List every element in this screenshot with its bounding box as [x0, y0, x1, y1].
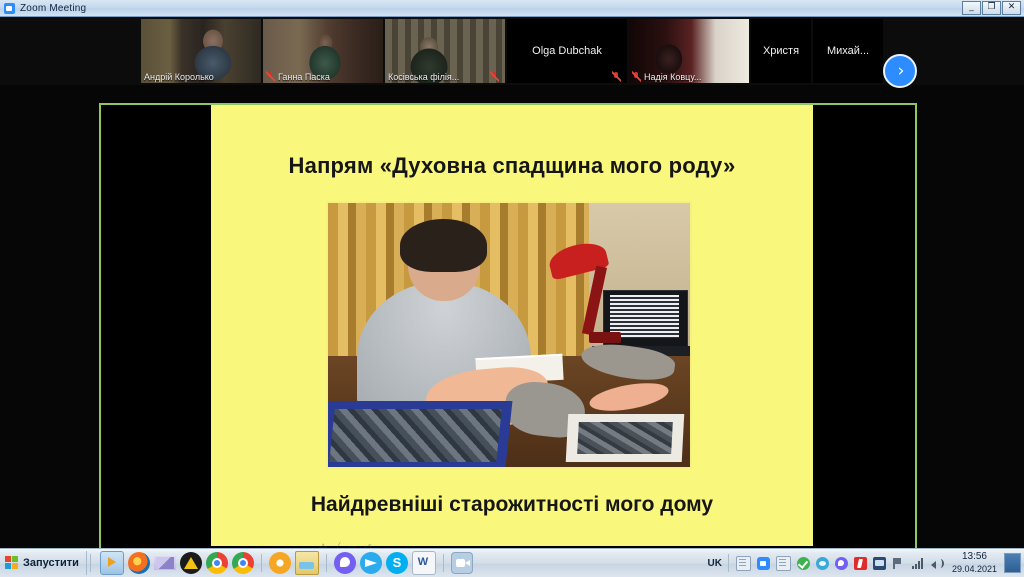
participant-tile[interactable]: Андрій Королько [141, 19, 261, 83]
participant-nametag: Надія Ковцу... [629, 70, 704, 83]
clock-time: 13:56 [952, 551, 997, 563]
file-explorer-icon[interactable] [295, 551, 319, 575]
participant-name: Надія Ковцу... [644, 72, 701, 82]
participant-name: Olga Dubchak [507, 19, 627, 83]
chrome-icon[interactable] [206, 552, 228, 574]
windows-logo-icon [5, 556, 19, 570]
mail-icon[interactable] [154, 552, 176, 574]
eye-icon[interactable] [816, 557, 829, 570]
participant-name: Косівська філія... [388, 72, 459, 82]
signal-icon[interactable] [911, 557, 924, 570]
presentation-slide: Напрям «Духовна спадщина мого роду» [211, 105, 813, 546]
participant-name: Ганна Паска [278, 72, 330, 82]
window-controls: _ ❐ ✕ [962, 1, 1024, 15]
flag-icon[interactable] [892, 557, 905, 570]
taskbar-clock[interactable]: 13:56 29.04.2021 [946, 551, 1002, 575]
orange-circle-app-icon[interactable] [269, 552, 291, 574]
mute-icon [490, 71, 499, 82]
participant-tile[interactable]: Olga Dubchak [507, 19, 627, 83]
red-app-icon[interactable] [854, 557, 867, 570]
mute-icon [632, 71, 641, 82]
skype-icon[interactable] [386, 552, 408, 574]
briefcase-icon[interactable] [736, 556, 751, 571]
zoom-app-icon[interactable] [451, 552, 473, 574]
quick-launch-bar [94, 551, 473, 575]
volume-icon[interactable] [930, 557, 943, 570]
telegram-icon[interactable] [360, 552, 382, 574]
participant-nametag: Ганна Паска [263, 70, 333, 83]
taskbar-divider [90, 554, 91, 572]
windows-taskbar: Запустити UK 13:56 29 [0, 548, 1024, 577]
participant-filmstrip: Андрій Королько Ганна Паска Косівська фі… [0, 17, 1024, 85]
zoom-meeting-window: Андрій Королько Ганна Паска Косівська фі… [0, 17, 1024, 548]
system-tray: UK 13:56 29.04.2021 [702, 549, 1024, 577]
clipboard-icon[interactable] [776, 556, 791, 571]
taskbar-divider [443, 554, 444, 572]
language-indicator[interactable]: UK [702, 558, 728, 569]
participant-tile[interactable]: Надія Ковцу... [629, 19, 749, 83]
start-button[interactable]: Запустити [1, 551, 87, 575]
viber-icon[interactable] [334, 552, 356, 574]
participant-name: Христя [751, 19, 811, 83]
participant-tile[interactable]: Ганна Паска [263, 19, 383, 83]
participant-tile[interactable]: Михай... [813, 19, 883, 83]
mute-icon [266, 71, 275, 82]
mute-icon [612, 71, 621, 82]
chrome-secondary-icon[interactable] [232, 552, 254, 574]
antivirus-ok-icon[interactable] [797, 557, 810, 570]
participant-tile[interactable]: Христя [751, 19, 811, 83]
participant-nametag: Андрій Королько [141, 70, 217, 83]
participant-nametag: Косівська філія... [385, 70, 462, 83]
slide-caption: Найдревніші старожитності мого дому [211, 493, 813, 517]
taskbar-divider [326, 554, 327, 572]
triangle-app-icon[interactable] [180, 552, 202, 574]
minimize-button[interactable]: _ [962, 1, 981, 15]
zoom-tray-icon[interactable] [757, 557, 770, 570]
participant-name: Михай... [813, 19, 883, 83]
next-page-button[interactable]: › [883, 54, 917, 88]
slide-title: Напрям «Духовна спадщина мого роду» [211, 153, 813, 179]
window-title: Zoom Meeting [20, 3, 86, 14]
word-icon[interactable] [412, 551, 436, 575]
show-desktop-button[interactable] [1004, 553, 1021, 573]
restore-button[interactable]: ❐ [982, 1, 1001, 15]
zoom-icon [4, 3, 15, 14]
participant-name: Андрій Королько [144, 72, 214, 82]
shared-screen-region: Напрям «Духовна спадщина мого роду» [99, 103, 917, 561]
chevron-right-icon: › [898, 63, 905, 80]
participant-tile[interactable]: Косівська філія... [385, 19, 505, 83]
start-button-label: Запустити [23, 557, 79, 569]
taskbar-divider [261, 554, 262, 572]
viber-tray-icon[interactable] [835, 557, 848, 570]
window-title-bar: Zoom Meeting _ ❐ ✕ [0, 0, 1024, 17]
media-player-icon[interactable] [100, 551, 124, 575]
clock-date: 29.04.2021 [952, 563, 997, 575]
tray-divider [728, 554, 729, 572]
close-button[interactable]: ✕ [1002, 1, 1021, 15]
slide-photo [326, 201, 692, 469]
firefox-icon[interactable] [128, 552, 150, 574]
network-icon[interactable] [873, 557, 886, 570]
